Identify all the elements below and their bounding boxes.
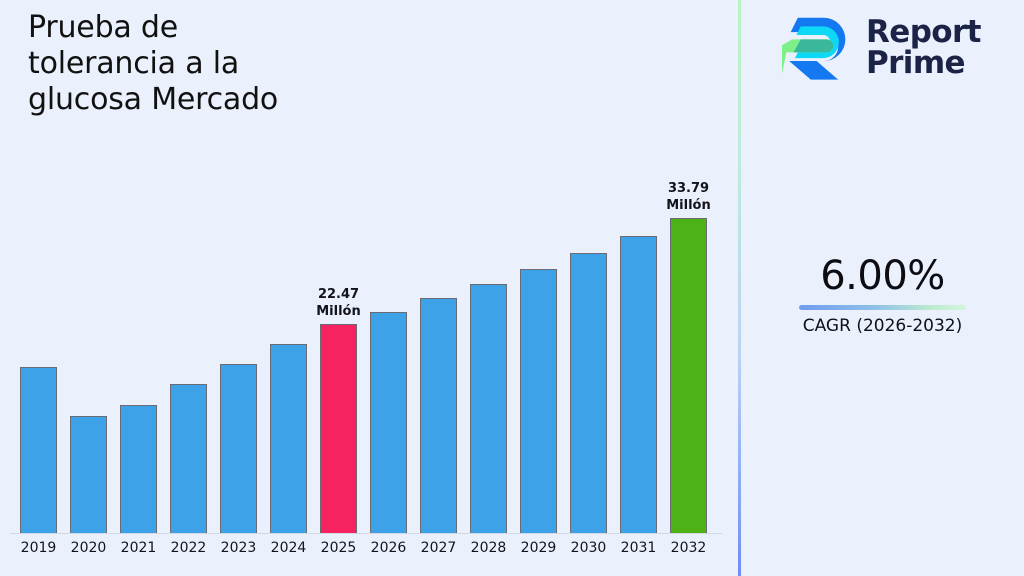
brand-panel: Report Prime 6.00% CAGR (2026-2032) — [741, 0, 1024, 576]
bar-2028[interactable] — [470, 284, 507, 533]
cagr-block: 6.00% CAGR (2026-2032) — [741, 253, 1024, 337]
bar-rect-2027[interactable] — [420, 298, 457, 533]
bar-2031[interactable] — [620, 236, 657, 533]
bar-rect-2020[interactable] — [70, 416, 107, 533]
bar-rect-2022[interactable] — [170, 384, 207, 533]
bar-rect-2024[interactable] — [270, 344, 307, 533]
infographic-root: Prueba de tolerancia a la glucosa Mercad… — [0, 0, 1024, 576]
bar-2024[interactable] — [270, 344, 307, 533]
x-tick-2032: 2032 — [659, 540, 719, 556]
bar-2025[interactable]: 22.47 Millón — [320, 324, 357, 533]
cagr-value: 6.00% — [741, 253, 1024, 299]
bar-value-label-2032: 33.79 Millón — [644, 180, 734, 214]
bar-2023[interactable] — [220, 364, 257, 533]
bar-rect-2026[interactable] — [370, 312, 407, 533]
bar-rect-2019[interactable] — [20, 367, 57, 533]
bar-rect-2023[interactable] — [220, 364, 257, 533]
bar-rect-2032[interactable] — [670, 218, 707, 533]
cagr-label: CAGR (2026-2032) — [741, 315, 1024, 337]
bar-2026[interactable] — [370, 312, 407, 533]
bar-rect-2029[interactable] — [520, 269, 557, 533]
chart-panel: Prueba de tolerancia a la glucosa Mercad… — [0, 0, 738, 576]
bar-rect-2030[interactable] — [570, 253, 607, 533]
bar-rect-2021[interactable] — [120, 405, 157, 533]
bar-2032[interactable]: 33.79 Millón — [670, 218, 707, 533]
bar-2027[interactable] — [420, 298, 457, 533]
bar-2019[interactable] — [20, 367, 57, 533]
bar-2029[interactable] — [520, 269, 557, 533]
bar-rect-2025[interactable] — [320, 324, 357, 533]
brand-logo: Report Prime — [782, 12, 981, 84]
bar-2022[interactable] — [170, 384, 207, 533]
report-prime-logo-icon — [782, 12, 854, 84]
bar-rect-2031[interactable] — [620, 236, 657, 533]
bar-2021[interactable] — [120, 405, 157, 533]
cagr-divider — [799, 305, 966, 310]
x-axis-line — [10, 533, 722, 534]
bar-2020[interactable] — [70, 416, 107, 533]
bar-chart: 20192020202120222023202422.47 Millón2025… — [0, 0, 738, 576]
bar-rect-2028[interactable] — [470, 284, 507, 533]
brand-wordmark: Report Prime — [866, 17, 981, 79]
bar-2030[interactable] — [570, 253, 607, 533]
